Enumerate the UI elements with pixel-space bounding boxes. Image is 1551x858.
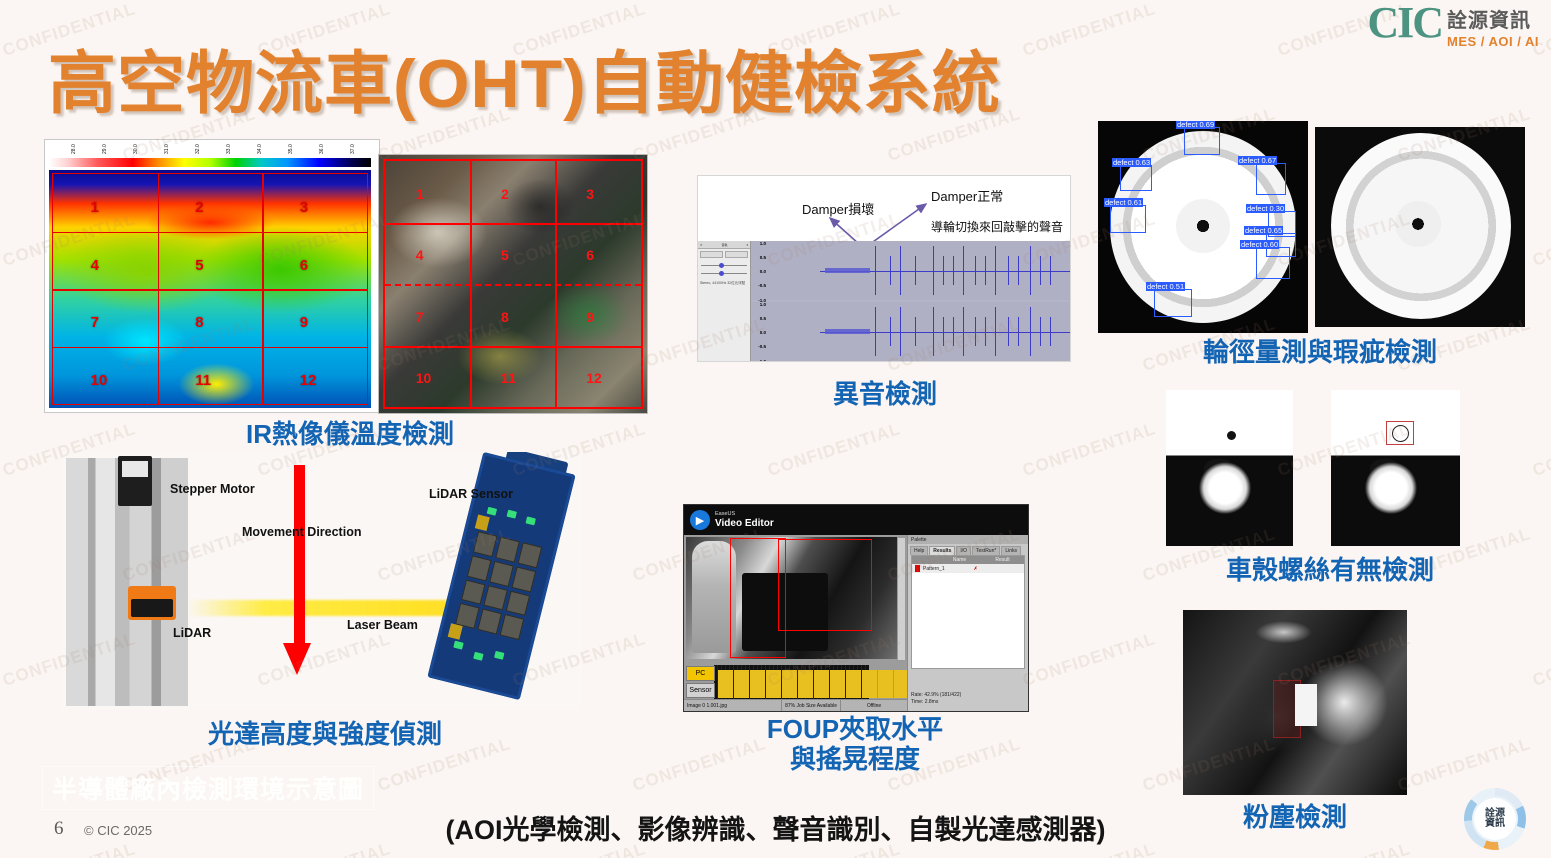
badge-core: 詮源 資訊 [1474, 798, 1516, 840]
brand-small: EaseUS [715, 511, 774, 517]
stepper-motor-part [118, 456, 152, 506]
label-lidar: LiDAR [173, 626, 211, 640]
gain-slider[interactable] [701, 263, 747, 268]
waveform-axis-label: 1.0 [760, 302, 766, 307]
thermal-cell-number: 6 [300, 257, 308, 274]
label-lidar-sensor: LiDAR Sensor [429, 487, 513, 501]
label-laser-beam: Laser Beam [347, 618, 418, 632]
board-cell-number: 9 [586, 309, 594, 325]
defect-label: defect 0.30 [1246, 204, 1285, 213]
screw-detection-box [1386, 421, 1414, 445]
screw-image-missing [1166, 390, 1293, 546]
video-editor-titlebar: ▶ EaseUS Video Editor [684, 505, 1028, 535]
movement-direction-arrow [290, 465, 304, 673]
result-rate: Rate: 42.9% (181/422) [911, 692, 961, 700]
defect-bbox [1120, 165, 1152, 191]
brand-big: Video Editor [715, 518, 774, 529]
waveform-spike [915, 317, 916, 345]
equipment-label-tag [1295, 684, 1317, 726]
board-cell-number: 10 [416, 370, 432, 386]
defect-label: defect 0.63 [1112, 158, 1151, 167]
waveform-spike [875, 307, 876, 357]
annotation-damper-broken: Damper損壞 [802, 199, 874, 218]
annotation-wheel-switch-sound: 導輪切換來回敲擊的聲音 [931, 218, 1063, 235]
board-cell-number: 7 [416, 309, 424, 325]
row-name: Pattern_1 [923, 566, 974, 572]
board-cell-number: 2 [501, 186, 509, 202]
filmstrip-frame[interactable] [814, 670, 829, 698]
filmstrip-frame[interactable] [750, 670, 765, 698]
screw-photo-b [1331, 390, 1460, 546]
waveform-spike [1018, 317, 1019, 345]
result-time: Time: 2.8ms [911, 699, 961, 707]
thermal-scale-tick: 30.0 [133, 144, 139, 154]
thermal-grid-overlay: 123456789101112 [52, 173, 368, 405]
caption-foup: FOUP夾取水平 與搖晃程度 [700, 715, 1010, 775]
thermal-cell-number: 10 [91, 372, 108, 389]
filmstrip-frame[interactable] [846, 670, 861, 698]
status-disk: 87% Job Size Available [781, 700, 840, 711]
annotation-damper-normal: Damper正常 [931, 186, 1003, 205]
waveform-spike [985, 256, 986, 284]
waveform-spike [1008, 317, 1009, 345]
filmstrip-frame[interactable] [878, 670, 893, 698]
column-name: Name [938, 557, 981, 563]
environment-diagram-label-box: 半導體廠內檢測環境示意圖 [42, 766, 374, 810]
board-cell-number: 12 [586, 370, 602, 386]
defect-bbox [1154, 289, 1192, 317]
logo-mark: CIC [1367, 2, 1442, 44]
results-table: Name Result Pattern_1 ✗ [911, 555, 1025, 669]
waveform-spike [953, 256, 954, 284]
environment-diagram-label: 半導體廠內檢測環境示意圖 [52, 770, 364, 806]
waveform-spike [975, 256, 976, 284]
filmstrip-frame[interactable] [766, 670, 781, 698]
thermal-scale-tick: 34.0 [257, 144, 263, 154]
results-table-header: Name Result [912, 556, 1024, 564]
waveform-axis-label: -1.0 [758, 359, 766, 362]
waveform-spike [915, 256, 916, 284]
waveform-spike [943, 256, 944, 284]
defect-label: defect 0.67 [1238, 156, 1277, 165]
waveform-1 [820, 241, 1070, 300]
preview-scrollbar[interactable] [897, 537, 906, 661]
thermal-scale-tick: 33.0 [226, 144, 232, 154]
thermal-cell-number: 3 [300, 199, 308, 216]
filmstrip-frame[interactable] [734, 670, 749, 698]
thermal-cell-number: 5 [195, 257, 203, 274]
waveform-spike [1040, 256, 1041, 284]
board-cell-number: 1 [416, 186, 424, 202]
wheel-defect-image-left: defect 0.69defect 0.63defect 0.67defect … [1098, 121, 1308, 333]
waveform-spike [995, 246, 996, 296]
waveform-y-axis-1: 1.00.50.0-0.5-1.0 [751, 241, 767, 300]
lidar-device-part [128, 586, 176, 620]
video-frame [686, 537, 898, 659]
board-cell-number: 4 [416, 247, 424, 263]
defect-bbox [1184, 127, 1220, 155]
track-close-icon[interactable]: ✕ [700, 243, 703, 247]
foup-video-editor: ▶ EaseUS Video Editor PC Sensor Image [683, 504, 1029, 712]
defect-bbox [1256, 163, 1286, 195]
waveform-track-2 [751, 302, 1070, 361]
caption-ir: IR熱像儀溫度檢測 [180, 420, 520, 450]
board-cell-number: 3 [586, 186, 594, 202]
thermal-cell-number: 7 [91, 314, 99, 331]
page-title: 高空物流車(OHT)自動健檢系統 [48, 28, 1001, 127]
waveform-spike [963, 307, 964, 357]
roi-box-right [778, 539, 872, 631]
thermal-cell-number: 2 [195, 199, 203, 216]
row-result: ✗ [974, 566, 1025, 572]
thermal-color-scale: 28.029.030.031.032.033.034.035.036.037.0 [49, 142, 371, 168]
logo-subtitle: MES / AOI / AI [1447, 34, 1539, 49]
results-pane: Palette HelpResultsI/OTestRun*Links Name… [907, 535, 1028, 711]
thermal-scale-tick: 35.0 [288, 144, 294, 154]
lidar-setup-diagram: Stepper Motor Movement Direction LiDAR L… [62, 452, 582, 710]
waveform-spike [953, 317, 954, 345]
column-result: Result [981, 557, 1024, 563]
thermal-cell-number: 4 [91, 257, 99, 274]
thermal-cell-number: 12 [300, 372, 317, 389]
waveform-spike [900, 246, 901, 296]
thermal-scale-tick: 32.0 [195, 144, 201, 154]
waveform-spike [875, 246, 876, 296]
thermal-scale-tick: 29.0 [102, 144, 108, 154]
palette-title: Palette [908, 535, 1028, 544]
timeline-filmstrip[interactable] [714, 665, 869, 703]
board-grid-overlay: 123456789101112 [383, 159, 643, 409]
waveform-spike [1018, 256, 1019, 284]
ir-thermal-image: 28.029.030.031.032.033.034.035.036.037.0… [44, 139, 380, 413]
board-cell-number: 5 [501, 247, 509, 263]
filmstrip-frame[interactable] [718, 670, 733, 698]
track-buttons[interactable] [698, 249, 750, 260]
tab-i-o[interactable]: I/O [956, 546, 971, 555]
track-control-panel[interactable]: ✕ 音軌 ▾ Stereo, 44100Hz 32位元浮點 [698, 241, 751, 361]
waveform-axis-label: 1.0 [760, 241, 766, 246]
table-row[interactable]: Pattern_1 ✗ [912, 564, 1024, 573]
filmstrip-frame[interactable] [782, 670, 797, 698]
waveform-2 [820, 302, 1070, 361]
dust-inspection-image [1183, 610, 1407, 795]
label-movement-direction: Movement Direction [242, 525, 361, 539]
filmstrip-frame[interactable] [862, 670, 877, 698]
screw-photo-a [1166, 390, 1293, 546]
visible-light-image: 123456789101112 [378, 154, 648, 414]
defect-label: defect 0.51 [1146, 282, 1185, 291]
tab-testrun-[interactable]: TestRun* [972, 546, 1000, 555]
results-tabs[interactable]: HelpResultsI/OTestRun*Links [908, 544, 1028, 555]
video-preview-pane: PC Sensor Image 0 1.001.jpg 87% Job Size… [684, 535, 907, 711]
waveform-axis-label: -0.5 [758, 344, 766, 349]
waveform-axis-label: 0.5 [760, 255, 766, 260]
waveform-axis-label: 0.0 [760, 330, 766, 335]
defect-label: defect 0.60 [1240, 240, 1279, 249]
waveform-spike [1050, 317, 1051, 345]
chevron-down-icon[interactable]: ▾ [746, 243, 748, 247]
waveform-axis-label: 0.5 [760, 316, 766, 321]
sensor-source-button[interactable]: Sensor [686, 683, 715, 698]
screw-image-detected [1331, 390, 1460, 546]
filmstrip-frame[interactable] [798, 670, 813, 698]
waveform-axis-label: 0.0 [760, 269, 766, 274]
board-cell-number: 8 [501, 309, 509, 325]
thermal-gradient-bar [49, 158, 371, 167]
defect-label: defect 0.69 [1176, 121, 1215, 129]
waveform-spike [890, 256, 891, 284]
waveform-spike [963, 246, 964, 296]
waveform-area: ✕ 音軌 ▾ Stereo, 44100Hz 32位元浮點 1.00.50.0-… [698, 241, 1070, 361]
filmstrip-frame[interactable] [830, 670, 845, 698]
sensor-chip-array [455, 531, 542, 640]
slide-root: CONFIDENTIALCONFIDENTIALCONFIDENTIALCONF… [0, 0, 1551, 858]
wheel-reference-image-right [1315, 127, 1525, 327]
waveform-track-1 [751, 241, 1070, 300]
thermal-scale-tick: 36.0 [319, 144, 325, 154]
waveform-spike [1008, 256, 1009, 284]
caption-audio: 異音檢測 [760, 380, 1010, 410]
thermal-cell-number: 11 [195, 372, 211, 389]
results-footer: Rate: 42.9% (181/422) Time: 2.8ms [911, 692, 961, 708]
thermal-scale-tick: 31.0 [164, 144, 170, 154]
waveform-spike [975, 317, 976, 345]
status-bar: Image 0 1.001.jpg 87% Job Size Available… [684, 699, 907, 711]
waveform-spike [1040, 317, 1041, 345]
waveform-spike [1030, 246, 1031, 296]
waveform-spike [995, 307, 996, 357]
tab-links[interactable]: Links [1001, 546, 1021, 555]
label-stepper-motor: Stepper Motor [170, 482, 255, 496]
audio-analysis-panel: Damper損壞 Damper正常 導輪切換來回敲擊的聲音 ✕ 音軌 ▾ Ste… [697, 175, 1071, 362]
bottom-summary-caption: (AOI光學檢測、影像辨識、聲音識別、自製光達感測器) [0, 808, 1551, 847]
thermal-scale-tick: 28.0 [71, 144, 77, 154]
caption-lidar: 光達高度與強度偵測 [150, 720, 500, 750]
track-meta: Stereo, 44100Hz 32位元浮點 [698, 279, 750, 288]
logo-chinese-name: 詮源資訊 [1447, 4, 1539, 33]
wheel-photo-clean [1315, 127, 1525, 327]
waveform-spike [943, 317, 944, 345]
defect-label: defect 0.61 [1104, 198, 1143, 207]
thermal-cell-number: 8 [195, 314, 203, 331]
waveform-axis-label: -0.5 [758, 283, 766, 288]
pc-source-button[interactable]: PC [686, 666, 715, 681]
tab-results[interactable]: Results [929, 546, 955, 555]
thermal-scale-tick: 37.0 [350, 144, 356, 154]
cic-logo: CIC 詮源資訊 MES / AOI / AI [1367, 2, 1539, 49]
caption-wheel: 輪徑量測與瑕疵檢測 [1140, 338, 1500, 368]
defect-bbox [1110, 205, 1146, 233]
waveform-spike [890, 317, 891, 345]
company-badge: 詮源 資訊 [1448, 786, 1543, 852]
easeus-logo-icon: ▶ [690, 510, 710, 530]
board-cell-number: 6 [586, 247, 594, 263]
waveform-y-axis-2: 1.00.50.0-0.5-1.0 [751, 302, 767, 361]
waveform-spike [1050, 256, 1051, 284]
badge-line2: 資訊 [1485, 819, 1505, 830]
track-title: 音軌 [721, 243, 727, 247]
defect-label: defect 0.65 [1244, 226, 1283, 235]
status-mode: Offline [840, 700, 907, 711]
pan-slider[interactable] [701, 271, 747, 276]
waveform-spike [900, 307, 901, 357]
waveform-spike [985, 317, 986, 345]
thermal-cell-number: 1 [91, 199, 99, 216]
waveform-spike [933, 246, 934, 296]
board-cell-number: 11 [501, 370, 516, 386]
defect-bbox [1256, 247, 1290, 279]
caption-screw: 車殼螺絲有無檢測 [1150, 556, 1510, 586]
tab-help[interactable]: Help [910, 546, 928, 555]
waveform-spike [1030, 307, 1031, 357]
thermal-cell-number: 9 [300, 314, 308, 331]
row-status-icon [915, 565, 920, 572]
status-file: Image 0 1.001.jpg [684, 700, 781, 711]
waveform-spike [933, 307, 934, 357]
